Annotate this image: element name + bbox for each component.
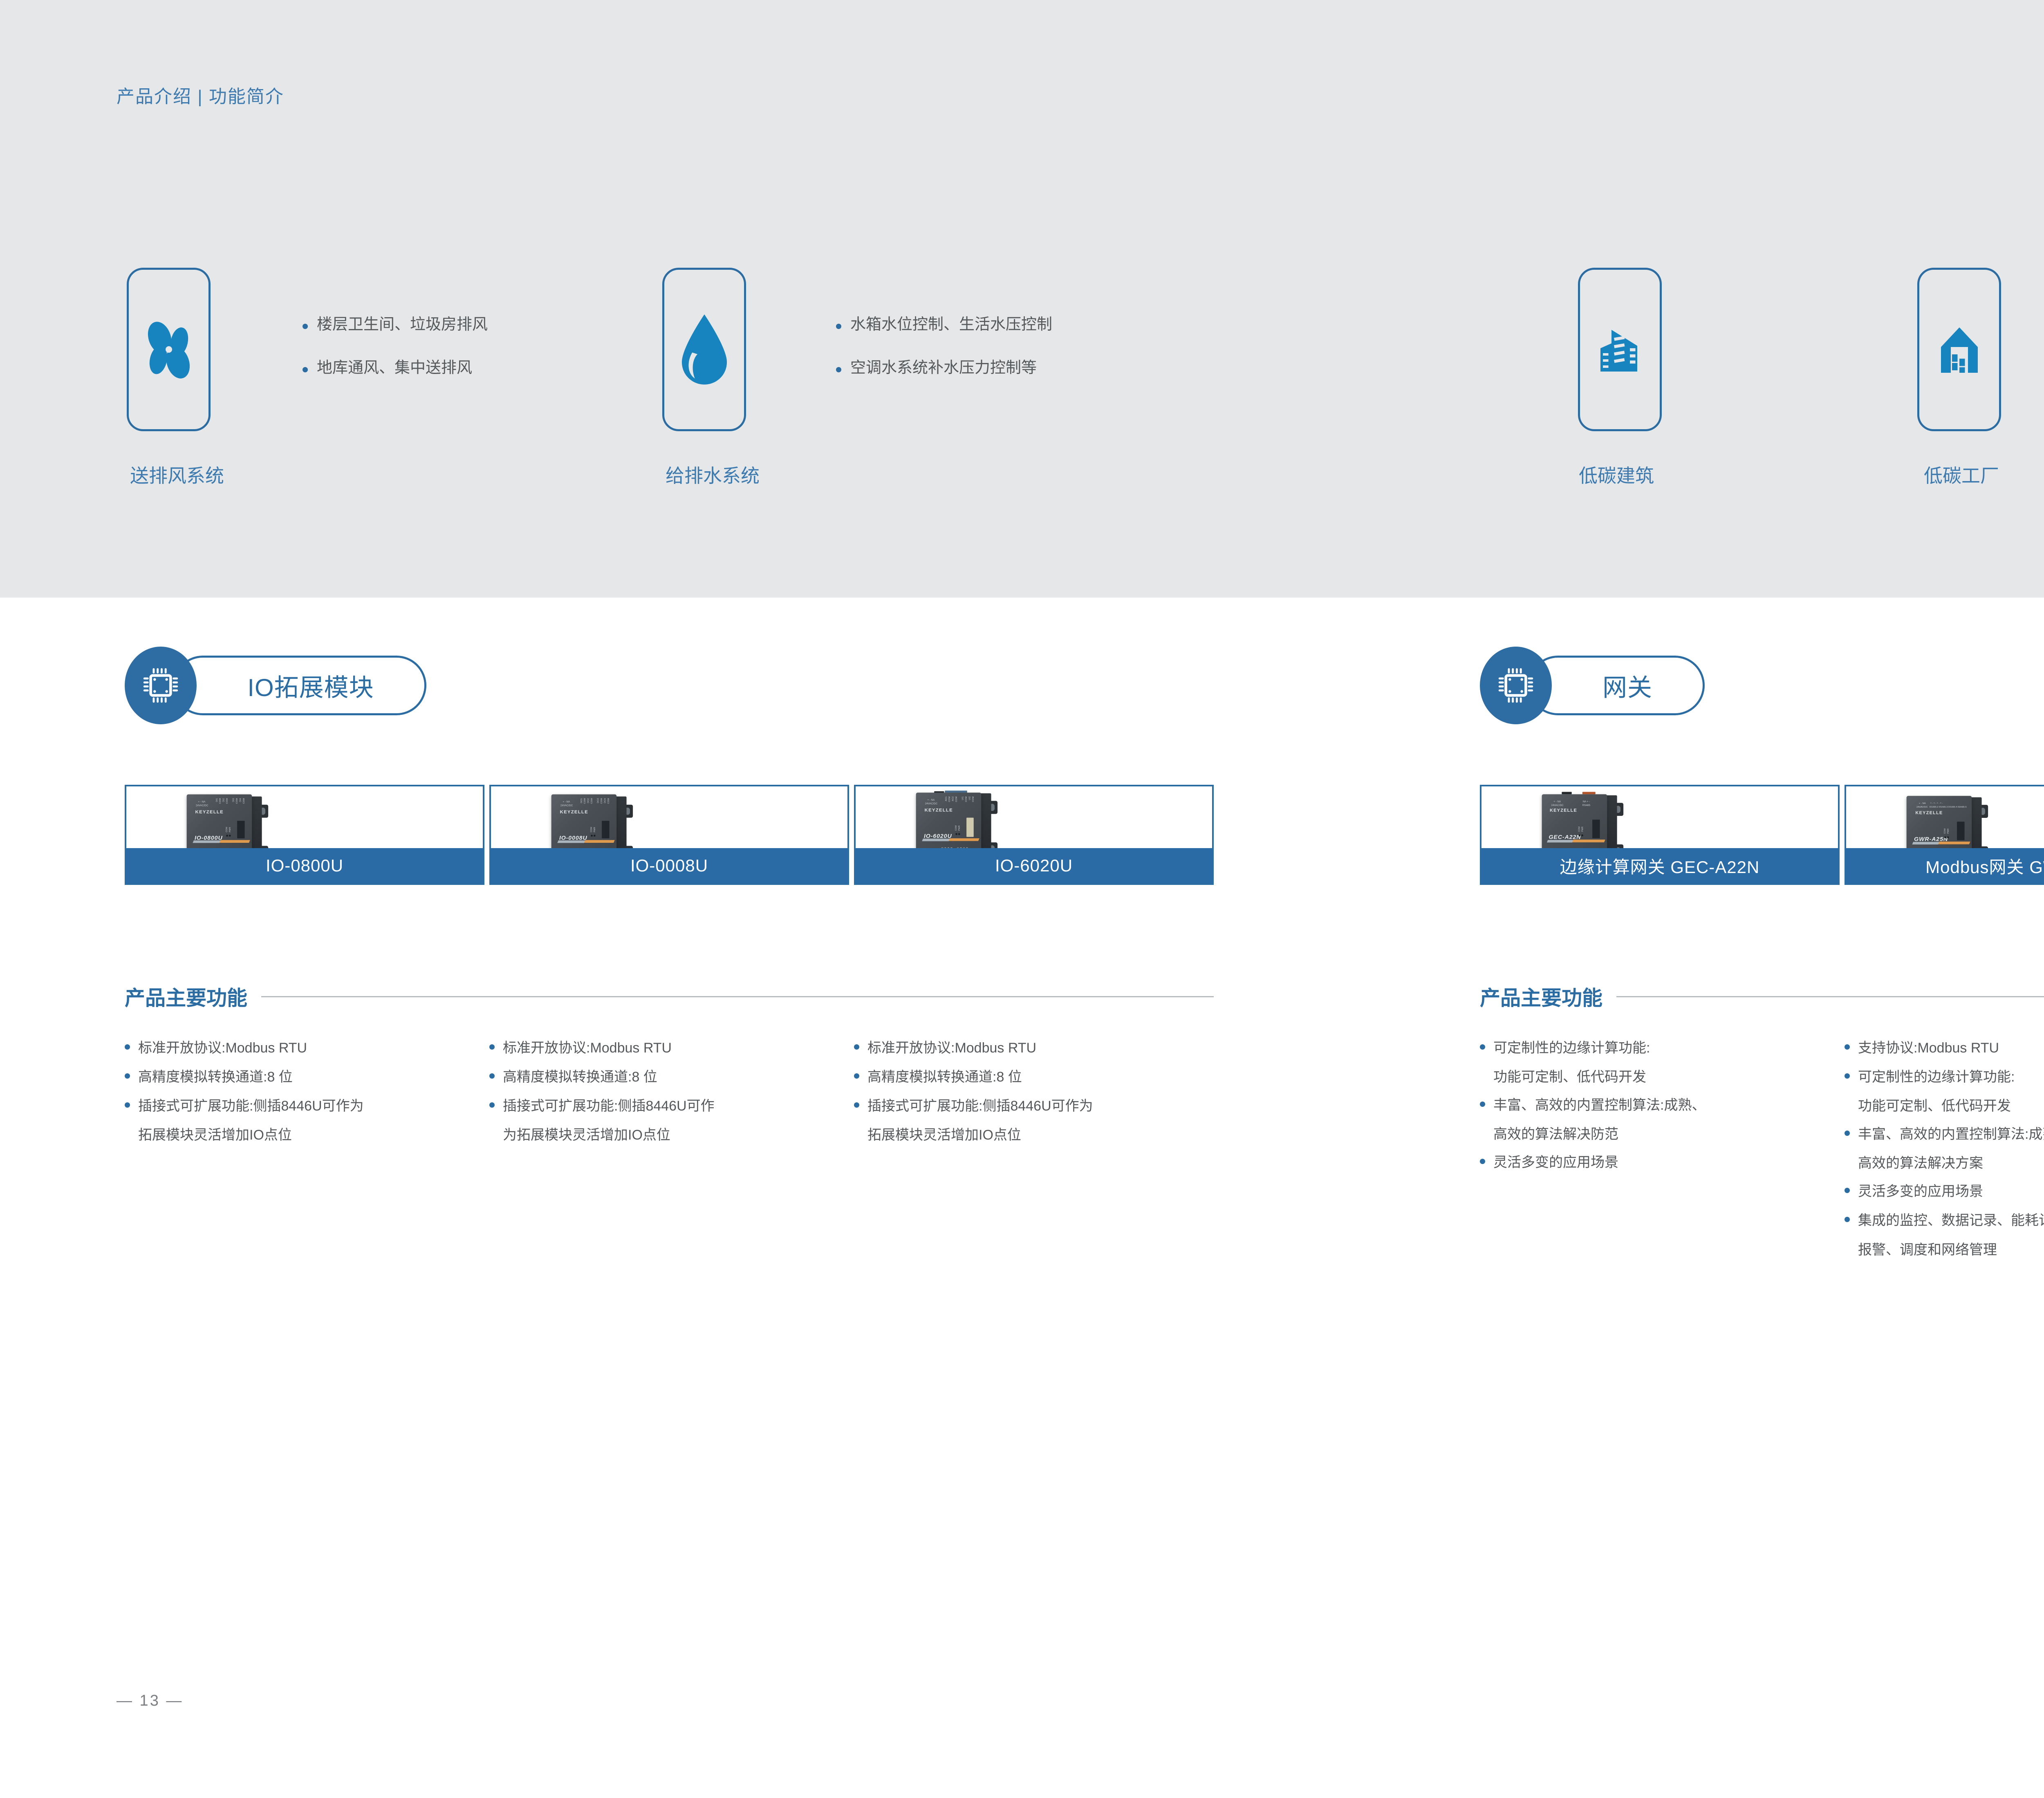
bullet-dot: [1845, 1217, 1850, 1222]
feature-item: 丰富、高效的内置控制算法:成熟、: [1845, 1123, 2044, 1146]
bullet-dot: [1845, 1073, 1850, 1079]
low-carbon-tile-factory: [1917, 268, 2001, 431]
feature-text: 丰富、高效的内置控制算法:成熟、: [1493, 1094, 1706, 1117]
feature-text: 丰富、高效的内置控制算法:成熟、: [1858, 1123, 2044, 1146]
feature-text: 可定制性的边缘计算功能:: [1493, 1037, 1650, 1059]
feature-item: 标准开放协议:Modbus RTU: [489, 1037, 833, 1059]
scene-label-water: 给排水系统: [666, 461, 760, 488]
feature-text: 高精度模拟转换通道:8 位: [138, 1066, 293, 1088]
feature-text-cont: 为拓展模块灵活增加IO点位: [503, 1124, 833, 1146]
application-scenarios-band: 产品介绍 | 功能简介 产品介绍 | 功能简介 楼层卫生间、垃圾房排风: [0, 0, 2044, 598]
feature-item: 丰富、高效的内置控制算法:成熟、: [1480, 1094, 1823, 1117]
brochure-page: 产品介绍 | 功能简介 产品介绍 | 功能简介 楼层卫生间、垃圾房排风: [0, 0, 2044, 1798]
feature-item: 插接式可扩展功能:侧插8446U可作为: [125, 1095, 468, 1117]
section-badge-gateway: 网关: [1480, 647, 1701, 724]
feature-text: 集成的监控、数据记录、能耗计量、: [1858, 1209, 2044, 1232]
product-image-io-0800u: KEYZELLE + - NA 24VAC/DC DI1 COM DI2 COM…: [126, 786, 483, 848]
product-caption-gwr-a25n: Modbus网关 GWR-A25N: [1846, 848, 2044, 883]
feature-text-cont: 报警、调度和网络管理: [1858, 1239, 2044, 1261]
bullet-dot: [125, 1044, 130, 1050]
feature-item: 灵活多变的应用场景: [1845, 1180, 2044, 1203]
device-brand: KEYZELLE: [195, 809, 224, 815]
feature-text-cont: 功能可定制、低代码开发: [1858, 1095, 2044, 1117]
scene-bullet-text: 水箱水位控制、生活水压控制: [850, 317, 1052, 332]
product-image-io-6020u: KEYZELLE + - NA 24VAC/DC AO1 COM AO2 COM…: [856, 786, 1212, 848]
badge-pill: IO拓展模块: [173, 656, 426, 715]
feature-text-cont: 拓展模块灵活增加IO点位: [138, 1124, 468, 1146]
low-carbon-tile-building: [1578, 268, 1662, 431]
scene-tile-water: [662, 268, 746, 431]
product-caption-io-0008u: IO-0008U: [491, 848, 847, 883]
feature-column-io-0800u: 标准开放协议:Modbus RTU 高精度模拟转换通道:8 位 插接式可扩展功能…: [125, 1037, 468, 1146]
product-image-gec-a22n: KEYZELLE + - NA 24VAC/DC NA + - RS485 GE…: [1481, 786, 1838, 848]
feature-text: 可定制性的边缘计算功能:: [1858, 1066, 2015, 1088]
office-building-icon: [1589, 319, 1651, 380]
feature-text: 插接式可扩展功能:侧插8446U可作: [503, 1095, 715, 1117]
device-power-spec: 24VAC/DC: [560, 804, 573, 807]
feature-item: 灵活多变的应用场景: [1480, 1151, 1823, 1174]
heading-divider: [261, 996, 1214, 997]
bullet-dot: [854, 1102, 859, 1108]
scene-bullet-text: 空调水系统补水压力控制等: [850, 360, 1037, 376]
scene-tile-ventilation: [127, 268, 211, 431]
badge-pill: 网关: [1528, 656, 1705, 715]
bullet-dot: [1480, 1159, 1485, 1164]
bullet-dot: [1480, 1102, 1485, 1107]
device-power-spec: 24VAC/DC: [925, 802, 937, 805]
feature-text: 标准开放协议:Modbus RTU: [503, 1037, 672, 1059]
feature-item: 可定制性的边缘计算功能:: [1845, 1066, 2044, 1088]
functions-title: 产品主要功能: [125, 982, 247, 1011]
section-badge-label: 网关: [1602, 668, 1652, 703]
feature-item: 支持协议:Modbus RTU: [1845, 1037, 2044, 1059]
products-area: IO拓展模块: [0, 598, 2044, 1798]
product-image-io-0008u: KEYZELLE + - NA 24VAC/DC DO1 COM DO2 COM…: [491, 786, 847, 848]
bullet-dot: [303, 367, 308, 372]
section-badge-label: IO拓展模块: [247, 668, 374, 703]
product-caption-gec-a22n: 边缘计算网关 GEC-A22N: [1481, 848, 1838, 883]
product-card-gec-a22n[interactable]: KEYZELLE + - NA 24VAC/DC NA + - RS485 GE…: [1480, 785, 1840, 885]
product-caption-io-6020u: IO-6020U: [856, 848, 1212, 883]
bullet-dot: [854, 1044, 859, 1050]
feature-text-cont: 高效的算法解决防范: [1493, 1123, 1823, 1146]
feature-item: 插接式可扩展功能:侧插8446U可作: [489, 1095, 833, 1117]
device-brand: KEYZELLE: [925, 807, 953, 813]
bullet-dot: [854, 1073, 859, 1079]
functions-title: 产品主要功能: [1480, 982, 1602, 1011]
bullet-dot: [489, 1044, 495, 1050]
section-badge-io-modules: IO拓展模块: [125, 647, 427, 724]
feature-text: 灵活多变的应用场景: [1493, 1151, 1618, 1174]
page-header-left: 产品介绍 | 功能简介: [117, 82, 284, 108]
device-power-spec: 24VAC/DC: [196, 804, 208, 807]
feature-column-gec-a22n: 可定制性的边缘计算功能: 功能可定制、低代码开发 丰富、高效的内置控制算法:成熟…: [1480, 1037, 1823, 1180]
factory-icon: [1929, 319, 1990, 380]
feature-item: 插接式可扩展功能:侧插8446U可作为: [854, 1095, 1214, 1117]
feature-column-io-0008u: 标准开放协议:Modbus RTU 高精度模拟转换通道:8 位 插接式可扩展功能…: [489, 1037, 833, 1146]
bullet-dot: [1480, 1044, 1485, 1050]
feature-text: 标准开放协议:Modbus RTU: [138, 1037, 307, 1059]
bullet-dot: [1845, 1131, 1850, 1136]
bullet-dot: [125, 1102, 130, 1108]
scene-label-ventilation: 送排风系统: [130, 461, 224, 488]
device-power-label: + - NA: [1919, 802, 1926, 805]
device-power-label: + - NA: [927, 799, 935, 802]
fan-icon: [136, 317, 202, 382]
feature-item: 标准开放协议:Modbus RTU: [125, 1037, 468, 1059]
scene-bullet-text: 楼层卫生间、垃圾房排风: [317, 317, 488, 332]
bullet-dot: [303, 324, 308, 329]
feature-text: 标准开放协议:Modbus RTU: [867, 1037, 1036, 1059]
feature-column-gwr-a25n: 支持协议:Modbus RTU 可定制性的边缘计算功能: 功能可定制、低代码开发…: [1845, 1037, 2044, 1261]
device-brand: KEYZELLE: [1915, 810, 1943, 815]
bullet-dot: [836, 367, 841, 372]
device-power-spec: 2AVAV/DC: [1916, 806, 1928, 808]
feature-item: 集成的监控、数据记录、能耗计量、: [1845, 1209, 2044, 1232]
device-bus-label: RS485: [1582, 804, 1590, 807]
feature-item: 高精度模拟转换通道:8 位: [125, 1066, 468, 1088]
feature-text: 插接式可扩展功能:侧插8446U可作为: [138, 1095, 364, 1117]
device-bus-pins: NA + -: [1583, 800, 1590, 803]
feature-item: 标准开放协议:Modbus RTU: [854, 1037, 1214, 1059]
chip-icon: [1480, 647, 1552, 724]
device-power-spec: 24VAC/DC: [1551, 804, 1563, 807]
device-brand: KEYZELLE: [1550, 808, 1577, 813]
device-bus-label: RS485-2 RS485-3 RS485-4 RA485-5: [1930, 806, 1967, 808]
scene-bullet-text: 地库通风、集中送排风: [317, 360, 472, 376]
product-card-gwr-a25n[interactable]: KEYZELLE + - NA 2AVAV/DC + - + - + - + -…: [1845, 785, 2044, 885]
feature-item: 高精度模拟转换通道:8 位: [854, 1066, 1214, 1088]
feature-text: 高精度模拟转换通道:8 位: [503, 1066, 657, 1088]
device-power-label: + - NA: [198, 800, 205, 803]
feature-column-io-6020u: 标准开放协议:Modbus RTU 高精度模拟转换通道:8 位 插接式可扩展功能…: [854, 1037, 1214, 1146]
product-caption-io-0800u: IO-0800U: [126, 848, 483, 883]
device-power-label: + - NA: [563, 800, 570, 803]
device-power-label: + - NA: [1553, 800, 1561, 803]
feature-item: 高精度模拟转换通道:8 位: [489, 1066, 833, 1088]
feature-text: 高精度模拟转换通道:8 位: [867, 1066, 1022, 1088]
low-carbon-label-building: 低碳建筑: [1579, 461, 1654, 488]
feature-text-cont: 功能可定制、低代码开发: [1493, 1066, 1823, 1088]
device-brand: KEYZELLE: [560, 809, 588, 815]
bullet-dot: [1845, 1188, 1850, 1193]
low-carbon-label-factory: 低碳工厂: [1924, 461, 1999, 488]
device-bus-label: RS485: [923, 848, 930, 848]
feature-text-cont: 高效的算法解决方案: [1858, 1152, 2044, 1175]
feature-text: 灵活多变的应用场景: [1858, 1180, 1983, 1203]
scene-bullets-water: 水箱水位控制、生活水压控制 空调水系统补水压力控制等: [836, 317, 1052, 376]
feature-text: 支持协议:Modbus RTU: [1858, 1037, 1999, 1059]
scene-bullets-ventilation: 楼层卫生间、垃圾房排风 地库通风、集中送排风: [303, 317, 488, 376]
heading-divider: [1616, 996, 2044, 997]
bullet-dot: [125, 1073, 130, 1079]
functions-heading-gateway: 产品主要功能: [1480, 982, 2044, 1011]
feature-item: 可定制性的边缘计算功能:: [1480, 1037, 1823, 1059]
feature-text: 插接式可扩展功能:侧插8446U可作为: [867, 1095, 1093, 1117]
water-drop-icon: [678, 313, 731, 386]
chip-icon: [125, 647, 197, 724]
bullet-dot: [1845, 1044, 1850, 1050]
product-image-gwr-a25n: KEYZELLE + - NA 2AVAV/DC + - + - + - + -…: [1846, 786, 2044, 848]
feature-text-cont: 拓展模块灵活增加IO点位: [867, 1124, 1214, 1146]
bullet-dot: [836, 324, 841, 329]
functions-heading-io: 产品主要功能: [125, 982, 1214, 1011]
product-card-io-0800u[interactable]: KEYZELLE + - NA 24VAC/DC DI1 COM DI2 COM…: [125, 785, 484, 885]
page-number-left: — 13 —: [117, 1692, 183, 1710]
bullet-dot: [489, 1102, 495, 1108]
product-card-io-0008u[interactable]: KEYZELLE + - NA 24VAC/DC DO1 COM DO2 COM…: [489, 785, 849, 885]
bullet-dot: [489, 1073, 495, 1079]
product-card-io-6020u[interactable]: KEYZELLE + - NA 24VAC/DC AO1 COM AO2 COM…: [854, 785, 1214, 885]
